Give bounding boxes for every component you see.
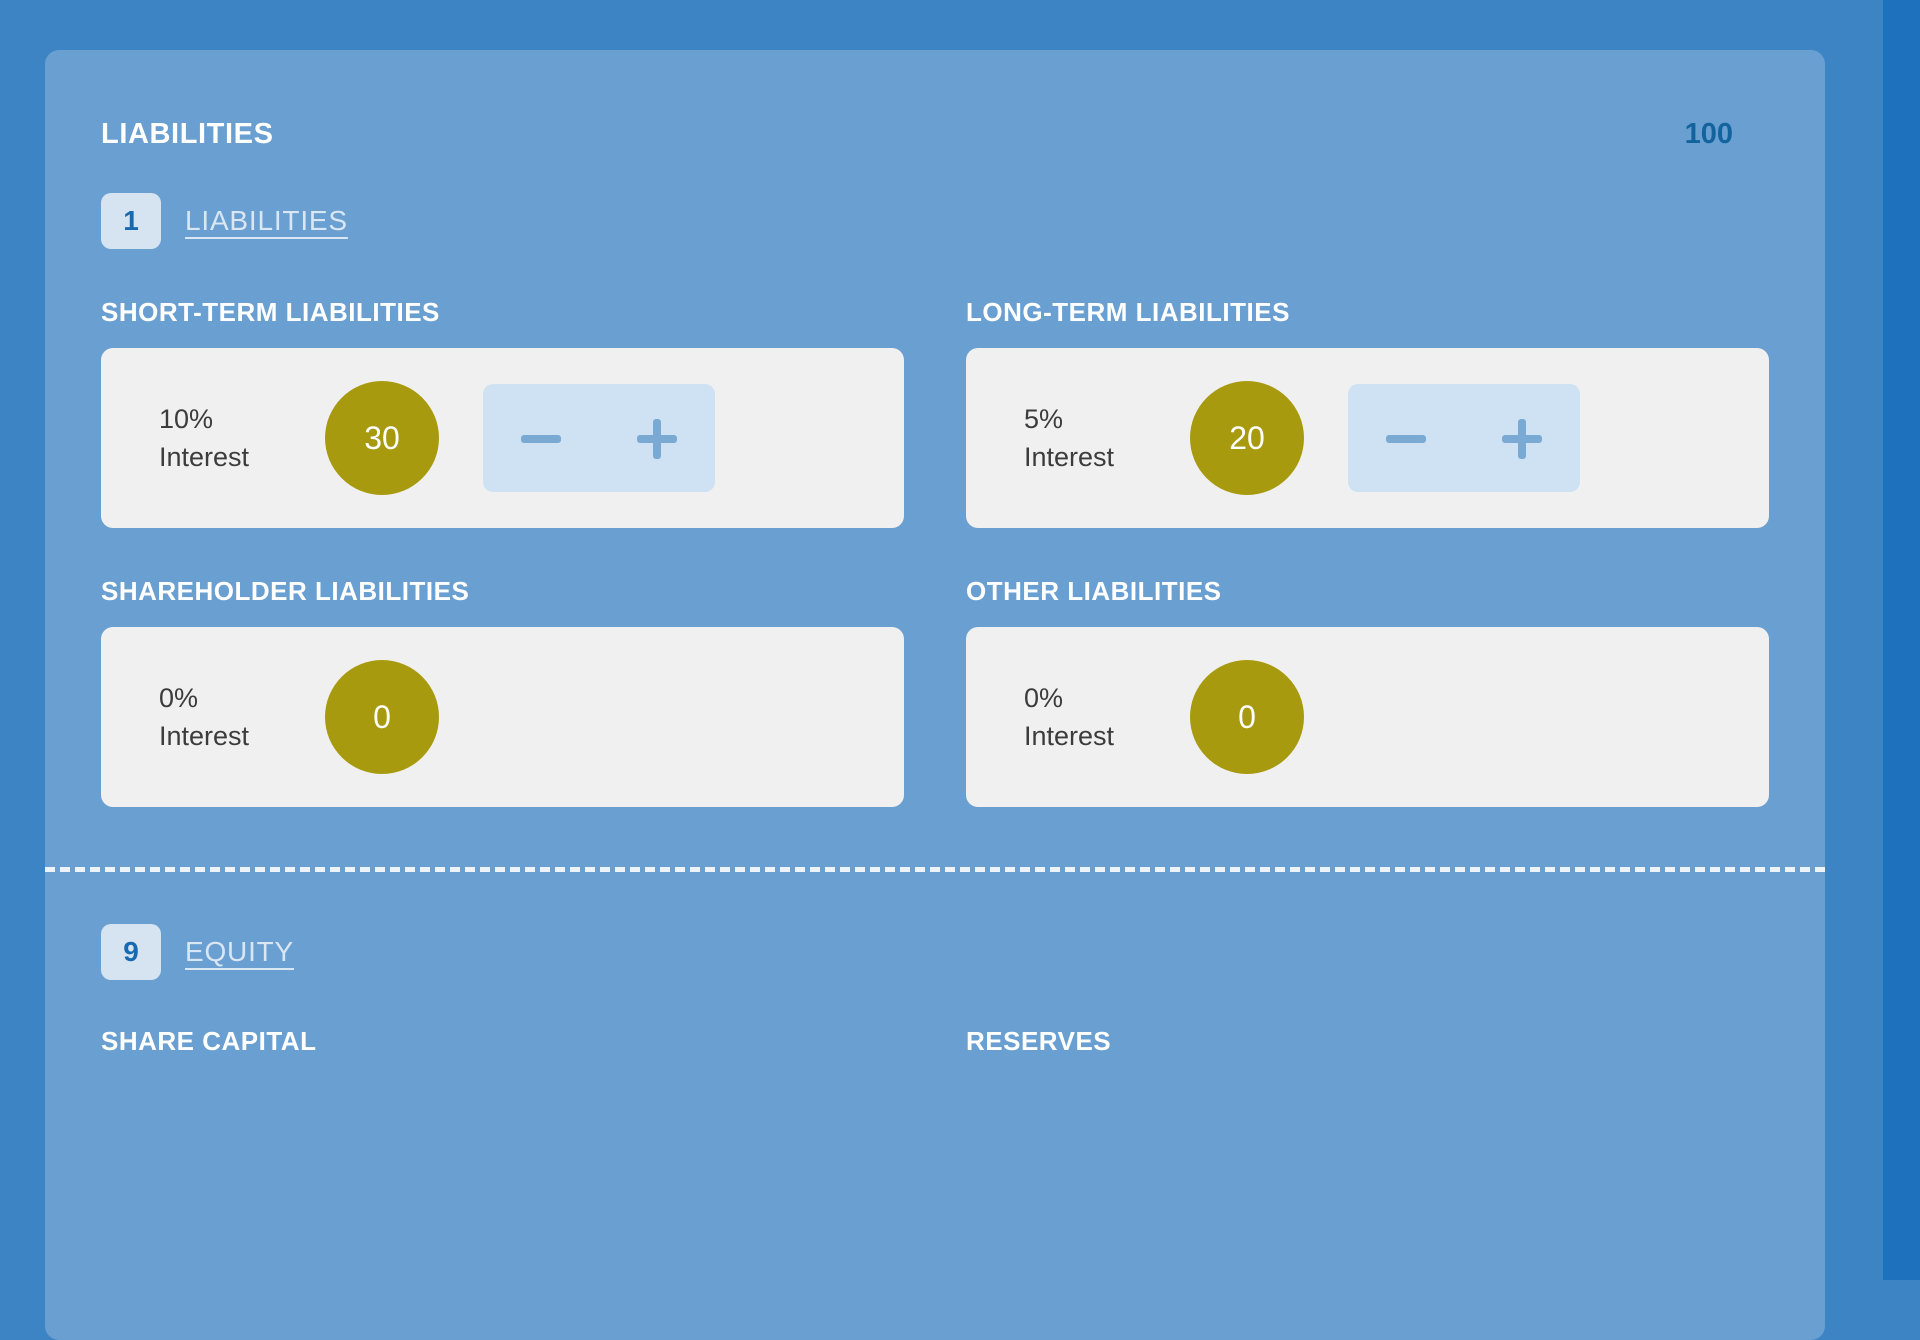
interest-other-liabilities: 0% Interest [1024,679,1190,756]
plus-icon[interactable] [1496,412,1548,464]
interest-percent: 5% [1024,404,1063,434]
page-title: LIABILITIES [101,118,274,151]
amount-long-term-liabilities: 20 [1190,381,1304,495]
minus-icon[interactable] [515,412,567,464]
section-divider [45,867,1825,872]
interest-word: Interest [159,442,249,472]
field-label-row-1: SHORT-TERM LIABILITIES LONG-TERM LIABILI… [101,297,1769,328]
liabilities-panel: LIABILITIES 100 1 LIABILITIES SHORT-TERM… [45,50,1825,1340]
label-short-term-liabilities: SHORT-TERM LIABILITIES [101,297,904,328]
section-badge-equity: 9 [101,924,161,980]
interest-percent: 0% [159,683,198,713]
label-shareholder-liabilities: SHAREHOLDER LIABILITIES [101,576,904,607]
field-label-row-2: SHAREHOLDER LIABILITIES OTHER LIABILITIE… [101,576,1769,607]
section-badge-liabilities: 1 [101,193,161,249]
interest-percent: 0% [1024,683,1063,713]
plus-icon[interactable] [631,412,683,464]
amount-other-liabilities: 0 [1190,660,1304,774]
card-shareholder-liabilities: 0% Interest 0 [101,627,904,807]
card-long-term-liabilities: 5% Interest 20 [966,348,1769,528]
interest-shareholder-liabilities: 0% Interest [159,679,325,756]
right-edge-strip [1883,0,1920,1280]
field-card-row-1: 10% Interest 30 5% Interest 20 [101,348,1769,528]
panel-total-value: 100 [1685,118,1769,151]
label-long-term-liabilities: LONG-TERM LIABILITIES [966,297,1769,328]
section-link-liabilities[interactable]: LIABILITIES [185,205,348,237]
amount-short-term-liabilities: 30 [325,381,439,495]
label-share-capital: SHARE CAPITAL [101,1026,904,1057]
label-other-liabilities: OTHER LIABILITIES [966,576,1769,607]
interest-word: Interest [159,721,249,751]
interest-percent: 10% [159,404,213,434]
stepper-long-term-liabilities[interactable] [1348,384,1580,492]
amount-shareholder-liabilities: 0 [325,660,439,774]
stepper-short-term-liabilities[interactable] [483,384,715,492]
field-card-row-2: 0% Interest 0 0% Interest 0 [101,627,1769,807]
field-label-row-3: SHARE CAPITAL RESERVES [101,1026,1769,1057]
interest-word: Interest [1024,721,1114,751]
section-header-liabilities: 1 LIABILITIES [101,193,1769,249]
minus-icon[interactable] [1380,412,1432,464]
card-short-term-liabilities: 10% Interest 30 [101,348,904,528]
panel-header: LIABILITIES 100 [101,50,1769,151]
interest-long-term-liabilities: 5% Interest [1024,400,1190,477]
section-link-equity[interactable]: EQUITY [185,936,294,968]
card-other-liabilities: 0% Interest 0 [966,627,1769,807]
interest-short-term-liabilities: 10% Interest [159,400,325,477]
interest-word: Interest [1024,442,1114,472]
section-header-equity: 9 EQUITY [101,924,1769,980]
label-reserves: RESERVES [966,1026,1769,1057]
